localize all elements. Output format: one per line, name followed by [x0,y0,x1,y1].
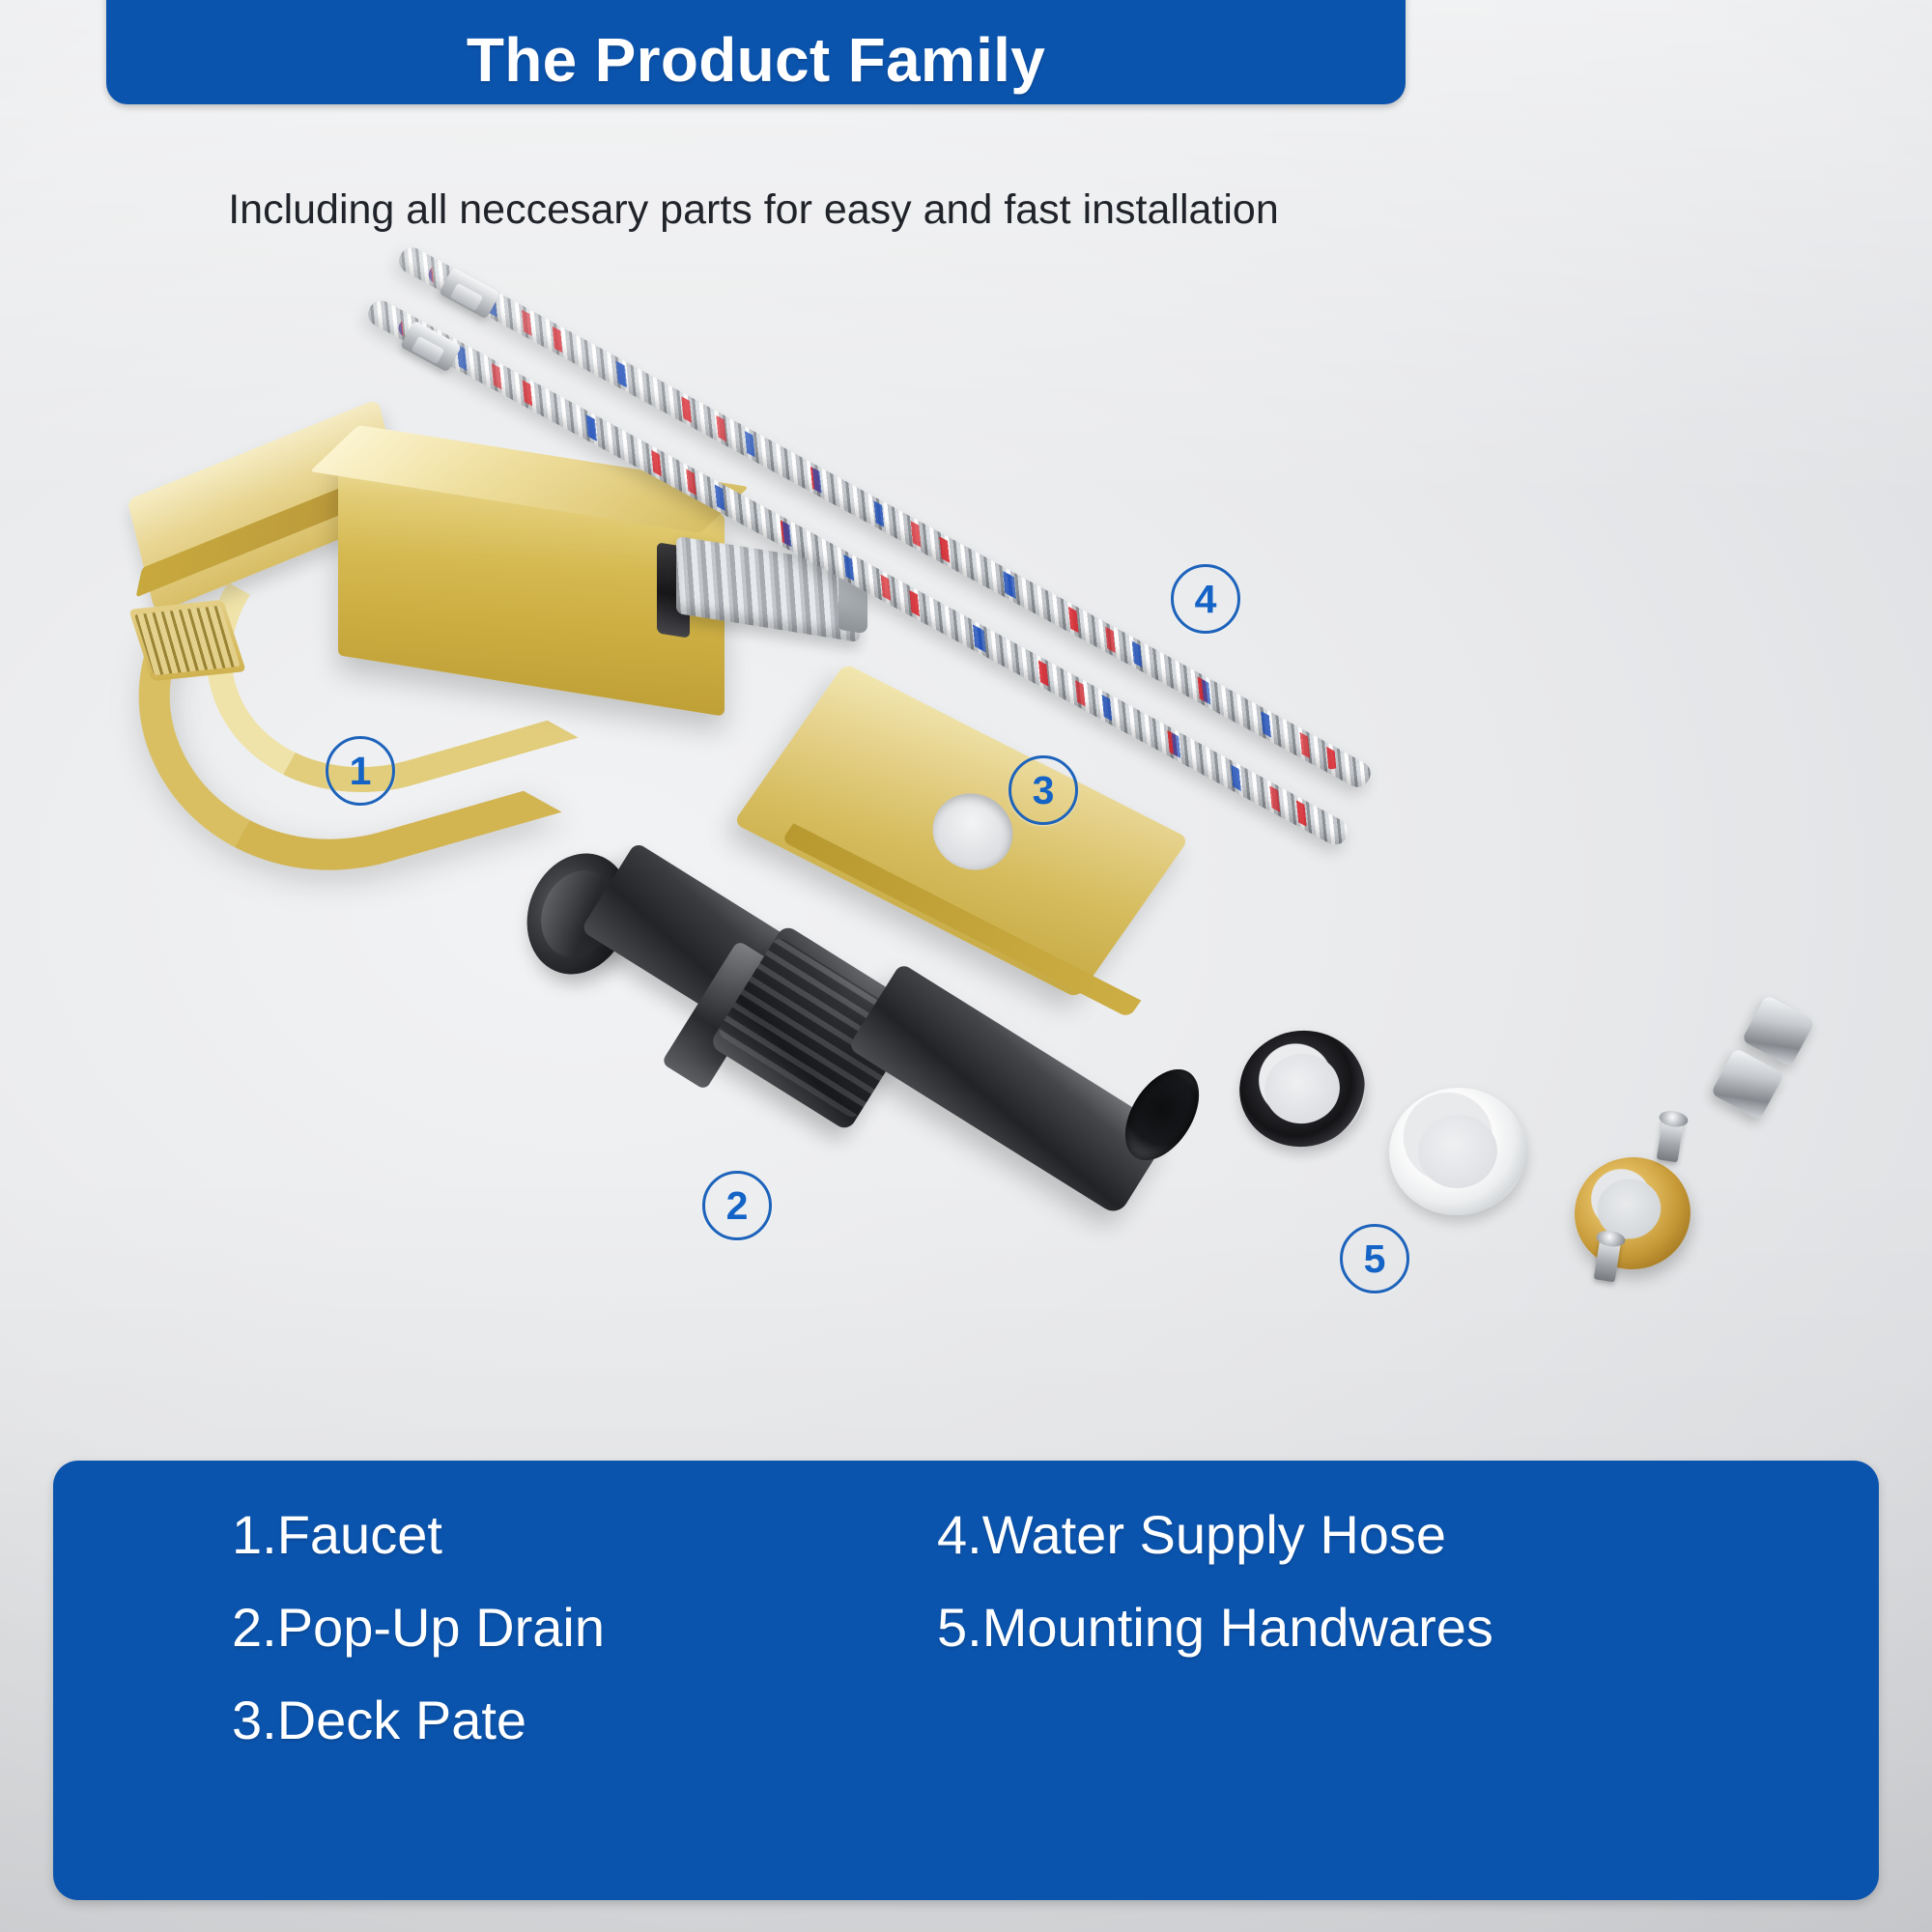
legend-item-3: 3.Deck Pate [232,1689,937,1752]
callout-marker-5: 5 [1340,1224,1409,1293]
page-subtitle: Including all neccesary parts for easy a… [0,172,1507,247]
callout-marker-1: 1 [326,736,395,806]
legend-item-5: 5.Mounting Handwares [937,1596,1879,1660]
page-title: The Product Family [467,29,1045,91]
legend-item-4: 4.Water Supply Hose [937,1503,1879,1567]
legend-grid: 1.Faucet 4.Water Supply Hose 2.Pop-Up Dr… [53,1503,1879,1752]
plastic-washer [1382,1081,1532,1222]
callout-number: 4 [1195,580,1217,619]
callout-number: 1 [350,752,372,791]
mounting-screw-1 [1657,1118,1685,1163]
deck-plate-product-image [768,734,1183,1053]
legend-item-1: 1.Faucet [232,1503,937,1567]
callout-marker-3: 3 [1009,755,1078,825]
brass-mounting-nut [1568,1150,1698,1277]
header-banner: The Product Family [106,0,1406,104]
legend-panel: 1.Faucet 4.Water Supply Hose 2.Pop-Up Dr… [53,1461,1879,1900]
callout-number: 2 [726,1186,749,1226]
callout-marker-4: 4 [1171,564,1240,634]
hose-2-coupling-nut [1711,1047,1785,1120]
callout-marker-2: 2 [702,1171,772,1240]
product-family-infographic: The Product Family Including all neccesa… [0,0,1932,1932]
legend-item-2: 2.Pop-Up Drain [232,1596,937,1660]
callout-number: 5 [1364,1239,1386,1279]
callout-number: 3 [1033,771,1055,810]
